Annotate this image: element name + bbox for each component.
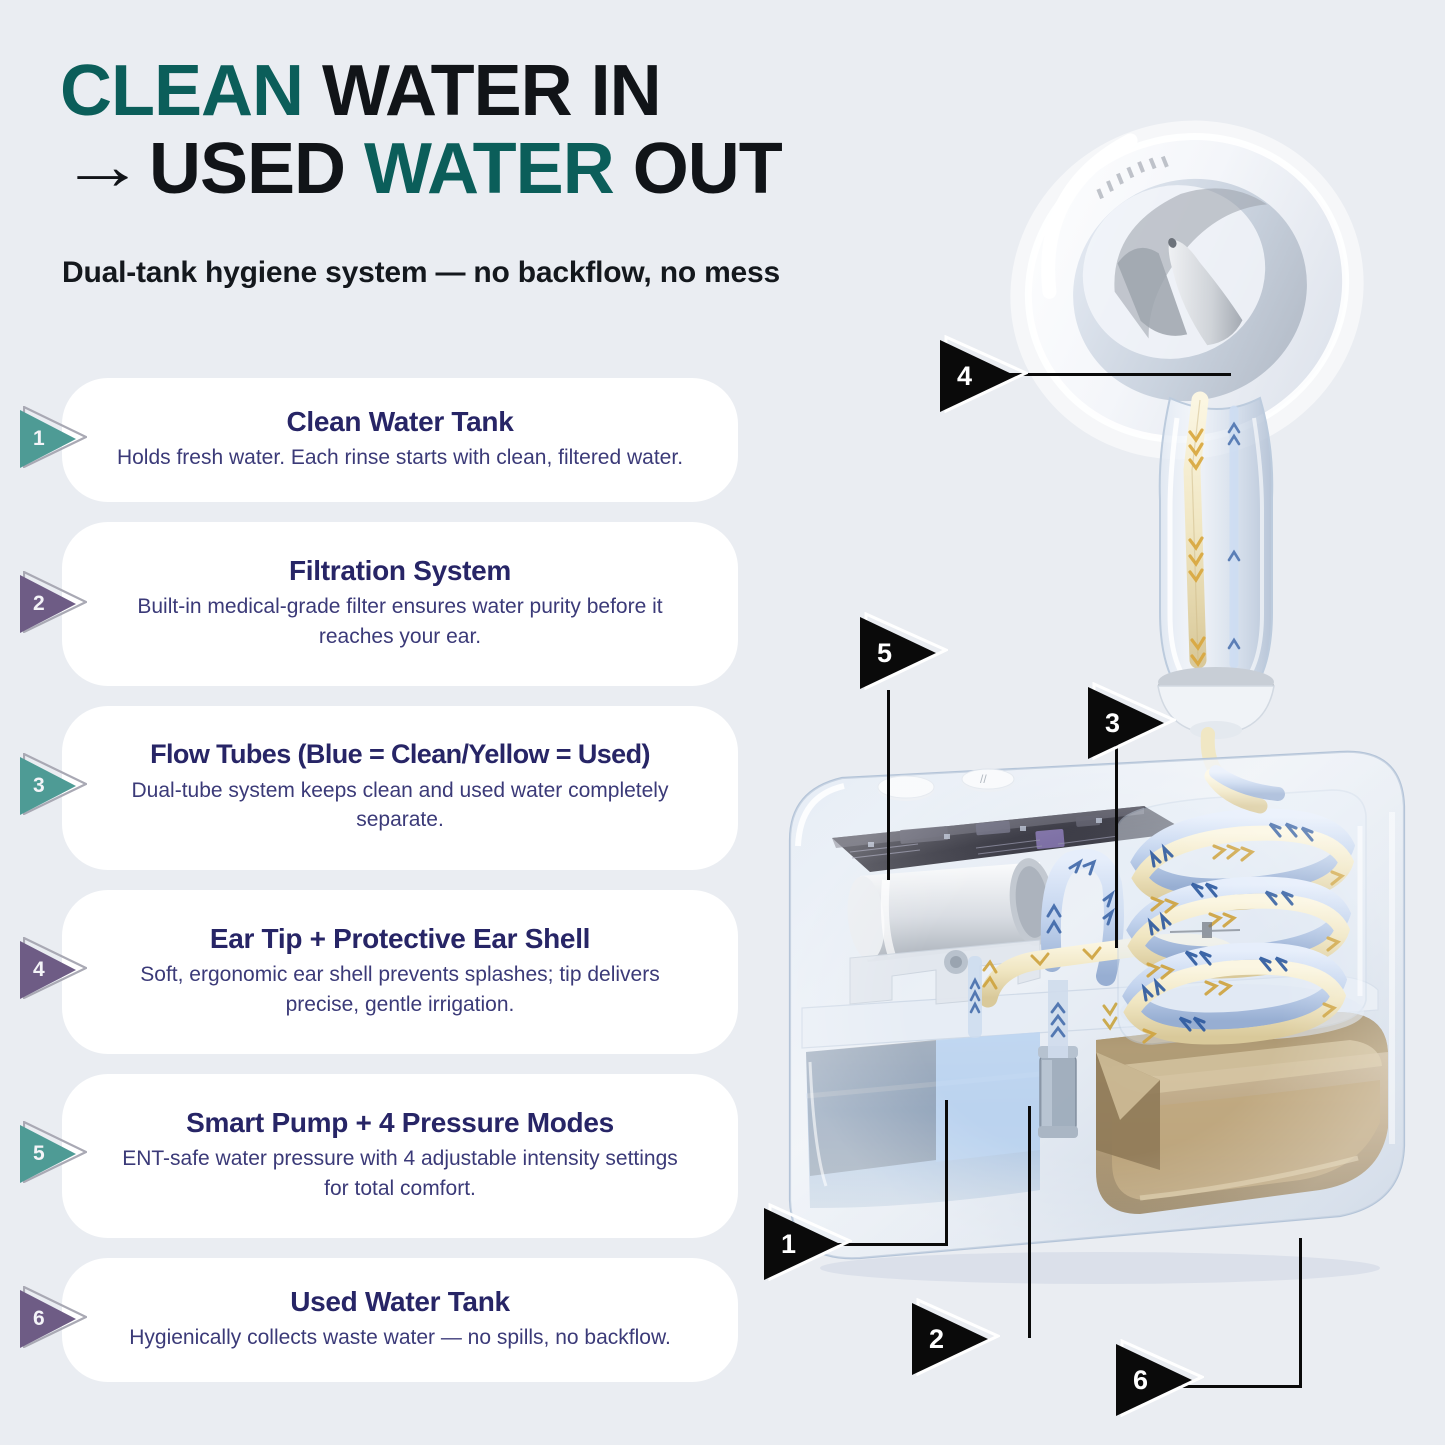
feature-marker-number-2: 2 (33, 593, 45, 614)
feature-title-3: Flow Tubes (Blue = Clean/Yellow = Used) (150, 739, 650, 771)
feature-card-list: Clean Water Tank Holds fresh water. Each… (0, 0, 760, 1445)
callout-triangle-icon (860, 617, 938, 689)
callout-number-4: 4 (957, 363, 972, 390)
leader-line-1v (945, 1100, 948, 1246)
feature-marker-4: 4 (20, 941, 84, 1003)
feature-title-4: Ear Tip + Protective Ear Shell (210, 922, 590, 955)
callout-triangle-icon (940, 340, 1018, 412)
feature-card-5[interactable]: Smart Pump + 4 Pressure Modes ENT-safe w… (62, 1074, 738, 1238)
feature-card-1[interactable]: Clean Water Tank Holds fresh water. Each… (62, 378, 738, 502)
marker-triangle-icon (20, 757, 78, 815)
feature-title-2: Filtration System (289, 554, 511, 587)
leader-line-2 (1028, 1106, 1031, 1338)
callout-number-2: 2 (929, 1326, 944, 1353)
feature-card-4[interactable]: Ear Tip + Protective Ear Shell Soft, erg… (62, 890, 738, 1054)
callout-flag-3: 3 (1088, 687, 1174, 767)
callout-flag-1: 1 (764, 1208, 850, 1288)
callout-flag-4: 4 (940, 340, 1026, 420)
callout-triangle-icon (1088, 687, 1166, 759)
feature-desc-1: Holds fresh water. Each rinse starts wit… (117, 443, 683, 473)
feature-card-6[interactable]: Used Water Tank Hygienically collects wa… (62, 1258, 738, 1382)
callout-number-5: 5 (877, 640, 892, 667)
callout-triangle-icon (912, 1303, 990, 1375)
callout-number-3: 3 (1105, 710, 1120, 737)
callout-number-6: 6 (1133, 1367, 1148, 1394)
feature-title-1: Clean Water Tank (286, 405, 513, 438)
feature-marker-2: 2 (20, 575, 84, 637)
marker-triangle-icon (20, 1125, 78, 1183)
callout-triangle-icon (764, 1208, 842, 1280)
feature-desc-3: Dual-tube system keeps clean and used wa… (108, 776, 692, 836)
callout-triangle-icon (1116, 1344, 1194, 1416)
feature-desc-6: Hygienically collects waste water — no s… (129, 1323, 671, 1353)
feature-card-3[interactable]: Flow Tubes (Blue = Clean/Yellow = Used) … (62, 706, 738, 870)
leader-line-5 (887, 690, 890, 880)
feature-marker-3: 3 (20, 757, 84, 819)
leader-line-1h (838, 1243, 948, 1246)
leader-line-6v (1299, 1238, 1302, 1388)
infographic-root: CLEAN WATER IN →USED WATER OUT Dual-tank… (0, 0, 1445, 1445)
marker-triangle-icon (20, 575, 78, 633)
device-body-group: // (790, 752, 1404, 1284)
callout-flag-2: 2 (912, 1303, 998, 1383)
marker-triangle-icon (20, 1290, 78, 1348)
marker-triangle-icon (20, 410, 78, 468)
marker-triangle-icon (20, 941, 78, 999)
leader-line-3 (1115, 740, 1118, 948)
feature-marker-number-4: 4 (33, 959, 45, 980)
product-illustration: // (740, 0, 1445, 1445)
feature-marker-1: 1 (20, 410, 84, 472)
callout-flag-6: 6 (1116, 1344, 1202, 1424)
feature-desc-5: ENT-safe water pressure with 4 adjustabl… (108, 1144, 692, 1204)
feature-title-5: Smart Pump + 4 Pressure Modes (186, 1106, 614, 1139)
feature-title-6: Used Water Tank (290, 1285, 510, 1318)
callout-flag-5: 5 (860, 617, 946, 697)
feature-card-2[interactable]: Filtration System Built-in medical-grade… (62, 522, 738, 686)
callout-number-1: 1 (781, 1231, 796, 1258)
feature-marker-number-6: 6 (33, 1308, 45, 1329)
feature-desc-4: Soft, ergonomic ear shell prevents splas… (108, 960, 692, 1020)
feature-marker-number-5: 5 (33, 1143, 45, 1164)
feature-marker-5: 5 (20, 1125, 84, 1187)
feature-desc-2: Built-in medical-grade filter ensures wa… (108, 592, 692, 652)
feature-marker-number-1: 1 (33, 428, 45, 449)
feature-marker-number-3: 3 (33, 775, 45, 796)
feature-marker-6: 6 (20, 1290, 84, 1352)
